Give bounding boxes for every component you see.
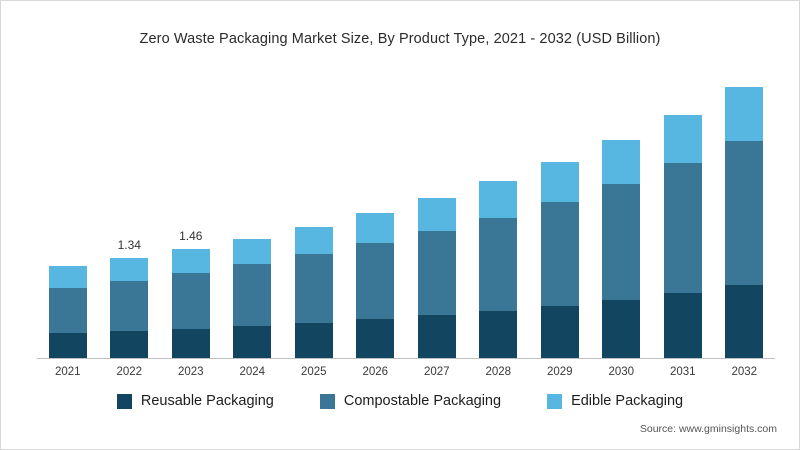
bar-stack[interactable] <box>49 266 87 359</box>
legend-item[interactable]: Reusable Packaging <box>117 393 274 409</box>
bar-segment[interactable] <box>110 281 148 331</box>
bar-segment[interactable] <box>479 218 517 311</box>
legend-swatch <box>117 394 132 409</box>
bar-group: 1.341.46 <box>37 73 775 359</box>
x-axis-line <box>37 358 775 359</box>
bar-segment[interactable] <box>725 87 763 140</box>
bar-segment[interactable] <box>418 315 456 359</box>
bar-segment[interactable] <box>172 249 210 273</box>
bar-segment[interactable] <box>602 300 640 359</box>
bar-stack[interactable] <box>356 213 394 359</box>
x-axis-tick: 2028 <box>475 366 521 378</box>
bar-value-label: 1.34 <box>94 238 164 252</box>
bar-segment[interactable] <box>541 162 579 202</box>
bar-column[interactable] <box>660 73 706 359</box>
bar-segment[interactable] <box>295 227 333 255</box>
bar-column[interactable] <box>229 73 275 359</box>
bar-segment[interactable] <box>725 285 763 359</box>
bar-segment[interactable] <box>110 331 148 359</box>
legend-swatch <box>320 394 335 409</box>
legend-swatch <box>547 394 562 409</box>
bar-segment[interactable] <box>664 293 702 359</box>
bar-stack[interactable] <box>602 140 640 359</box>
x-axis-tick: 2032 <box>721 366 767 378</box>
bar-column[interactable] <box>598 73 644 359</box>
legend-label: Compostable Packaging <box>344 393 501 409</box>
bar-segment[interactable] <box>664 115 702 163</box>
bar-segment[interactable] <box>356 213 394 243</box>
chart-container: Zero Waste Packaging Market Size, By Pro… <box>0 0 800 450</box>
bar-column[interactable] <box>721 73 767 359</box>
bar-segment[interactable] <box>172 329 210 359</box>
legend-item[interactable]: Edible Packaging <box>547 393 683 409</box>
bar-stack[interactable] <box>418 198 456 359</box>
bar-stack[interactable] <box>233 239 271 359</box>
x-axis-tick: 2029 <box>537 366 583 378</box>
x-axis-tick: 2021 <box>45 366 91 378</box>
x-axis-tick: 2027 <box>414 366 460 378</box>
bar-stack[interactable] <box>295 227 333 359</box>
bar-column[interactable] <box>45 73 91 359</box>
bar-segment[interactable] <box>295 323 333 359</box>
legend-item[interactable]: Compostable Packaging <box>320 393 501 409</box>
bar-segment[interactable] <box>602 184 640 300</box>
x-axis-tick: 2026 <box>352 366 398 378</box>
bar-segment[interactable] <box>541 306 579 359</box>
page-title: Zero Waste Packaging Market Size, By Pro… <box>1 31 799 47</box>
bar-segment[interactable] <box>233 264 271 326</box>
bar-stack[interactable] <box>479 181 517 359</box>
bar-segment[interactable] <box>295 254 333 322</box>
legend-label: Reusable Packaging <box>141 393 274 409</box>
bar-stack[interactable] <box>664 115 702 359</box>
x-axis-tick: 2024 <box>229 366 275 378</box>
bar-column[interactable]: 1.46 <box>168 73 214 359</box>
bar-column[interactable] <box>352 73 398 359</box>
x-axis-tick: 2023 <box>168 366 214 378</box>
bar-segment[interactable] <box>233 326 271 359</box>
bar-segment[interactable] <box>602 140 640 184</box>
bar-segment[interactable] <box>664 163 702 292</box>
bar-column[interactable] <box>475 73 521 359</box>
x-axis-tick-labels: 2021202220232024202520262027202820292030… <box>37 363 775 381</box>
bar-segment[interactable] <box>356 319 394 359</box>
bar-segment[interactable] <box>479 311 517 359</box>
bar-segment[interactable] <box>725 141 763 286</box>
chart-legend: Reusable PackagingCompostable PackagingE… <box>1 393 799 409</box>
bar-segment[interactable] <box>110 258 148 281</box>
bar-column[interactable] <box>537 73 583 359</box>
x-axis-tick: 2025 <box>291 366 337 378</box>
bar-segment[interactable] <box>172 273 210 329</box>
bar-segment[interactable] <box>418 231 456 315</box>
bar-segment[interactable] <box>479 181 517 217</box>
source-note: Source: www.gminsights.com <box>640 423 777 435</box>
bar-stack[interactable] <box>172 249 210 359</box>
bar-segment[interactable] <box>49 333 87 359</box>
bar-segment[interactable] <box>233 239 271 265</box>
x-axis-tick: 2030 <box>598 366 644 378</box>
bar-column[interactable] <box>414 73 460 359</box>
bar-segment[interactable] <box>49 288 87 333</box>
bar-stack[interactable] <box>725 87 763 359</box>
bar-column[interactable] <box>291 73 337 359</box>
x-axis-tick: 2031 <box>660 366 706 378</box>
bar-column[interactable]: 1.34 <box>106 73 152 359</box>
bar-segment[interactable] <box>541 202 579 306</box>
legend-label: Edible Packaging <box>571 393 683 409</box>
bar-segment[interactable] <box>49 266 87 288</box>
bar-stack[interactable] <box>541 162 579 359</box>
bar-segment[interactable] <box>418 198 456 231</box>
bar-stack[interactable] <box>110 258 148 359</box>
plot-area: 1.341.46 <box>37 73 775 359</box>
x-axis-tick: 2022 <box>106 366 152 378</box>
bar-value-label: 1.46 <box>156 229 226 243</box>
bar-segment[interactable] <box>356 243 394 319</box>
